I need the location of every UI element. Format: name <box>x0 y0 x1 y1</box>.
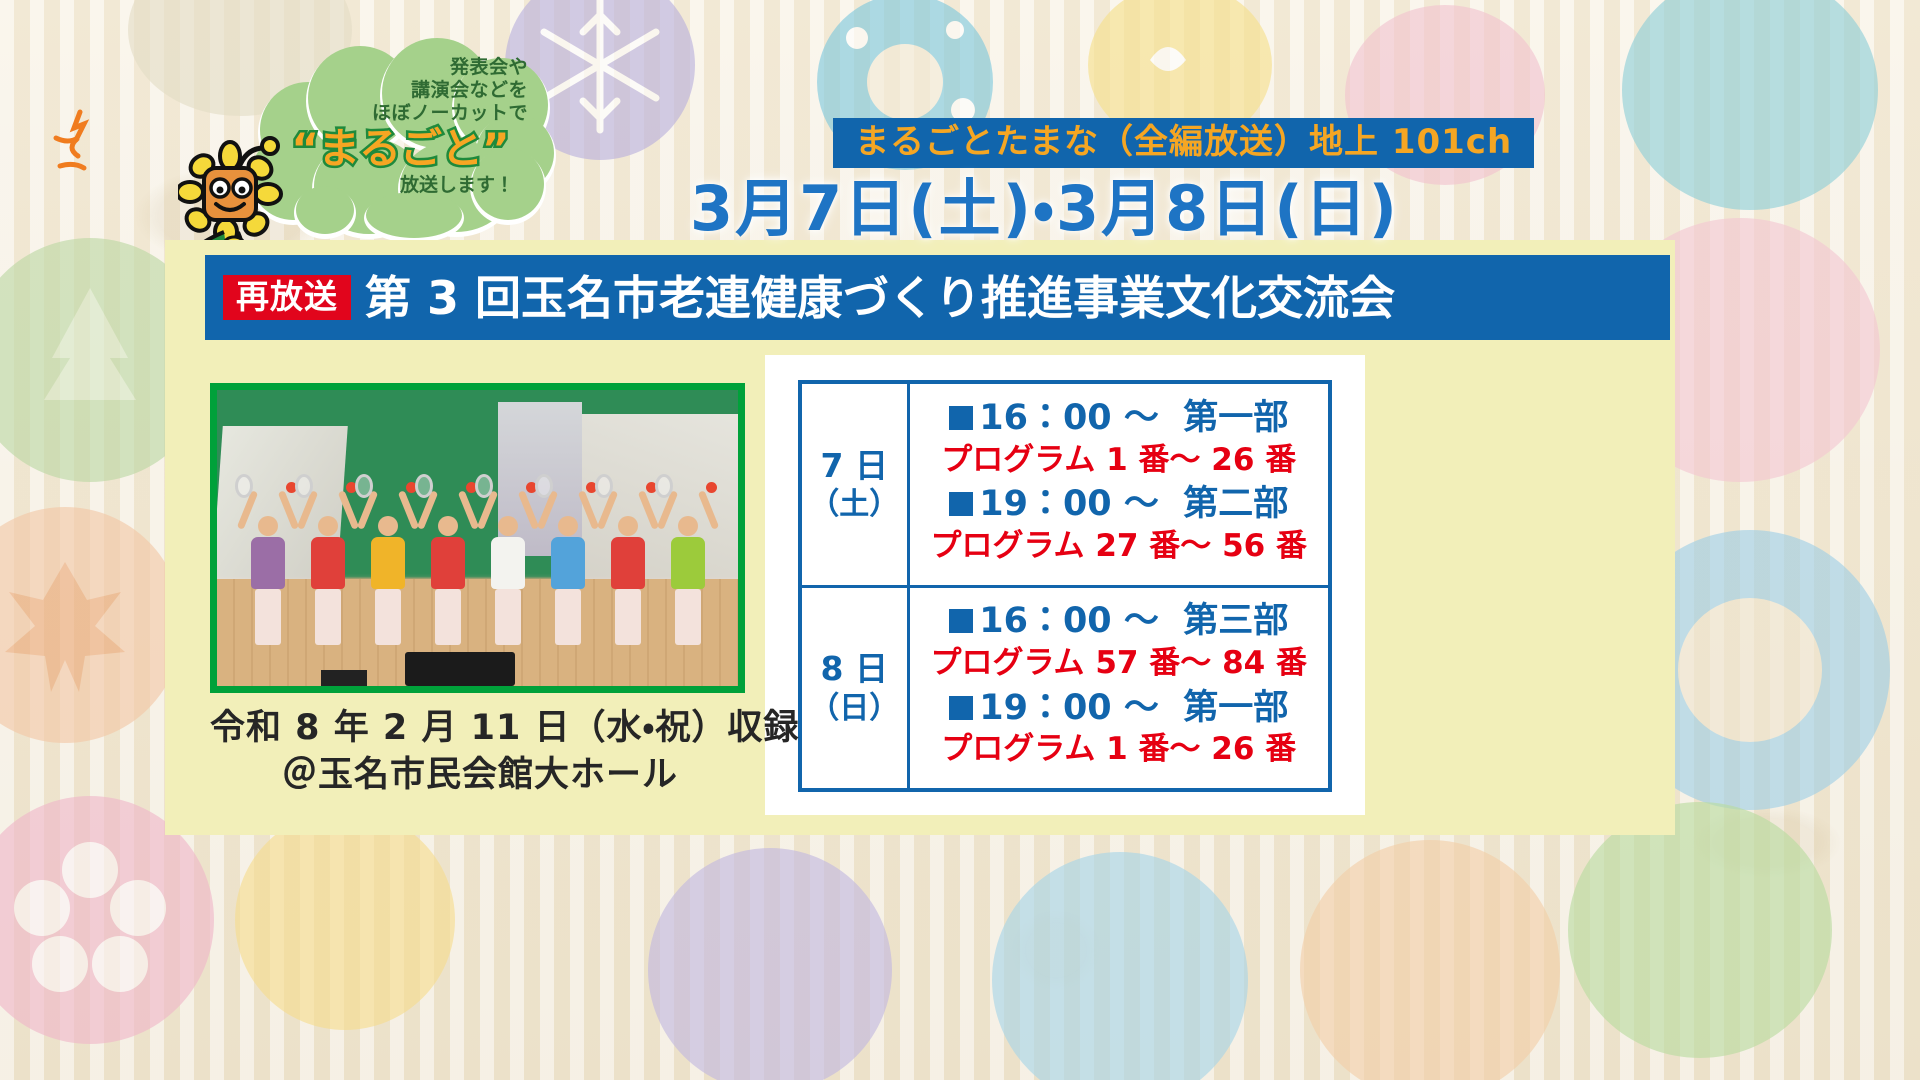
rebroadcast-badge: 再放送 <box>223 275 351 320</box>
schedule-time: 16：00 ～ <box>979 398 1159 438</box>
schedule-part: 第一部 <box>1183 688 1288 728</box>
schedule-day-weekday: （土） <box>802 486 907 524</box>
photo-performer <box>305 516 351 645</box>
broadcast-date: 3月7日(土)・3月8日(日) <box>690 158 1399 248</box>
schedule-part: 第三部 <box>1183 601 1288 641</box>
schedule-day-cell: 7 日 （土） <box>800 382 908 586</box>
schedule-slots-cell: 16：00 ～ 第一部 プログラム 1 番～ 26 番 19：00 ～ 第二部 … <box>908 382 1330 586</box>
bullet-square-icon <box>949 406 973 430</box>
caption-venue: ＠玉名市民会館大ホール <box>210 752 750 799</box>
bullet-square-icon <box>949 492 973 516</box>
schedule-part: 第二部 <box>1183 484 1288 524</box>
schedule-day-weekday: （日） <box>802 690 907 728</box>
photo-performer <box>485 516 531 645</box>
photo-performer <box>545 516 591 645</box>
bubble-line-1: 発表会や <box>250 56 550 79</box>
schedule-slots-cell: 16：00 ～ 第三部 プログラム 57 番～ 84 番 19：00 ～ 第一部… <box>908 586 1330 790</box>
page-title: 第 3 回玉名市老連健康づくり推進事業文化交流会 <box>365 275 1395 321</box>
caption-recording-date: 令和 8 年 2 月 11 日（水・祝）収録 <box>210 705 750 752</box>
schedule-part: 第一部 <box>1183 398 1288 438</box>
lavender-blob-decoration <box>640 830 900 1080</box>
teal-blob-decoration <box>1610 0 1890 220</box>
bubble-line-3: ほぼノーカットで <box>250 102 550 125</box>
schedule-time: 19：00 ～ <box>979 484 1159 524</box>
bubble-line-2: 講演会などを <box>250 79 550 102</box>
schedule-time-row: 16：00 ～ 第三部 <box>910 600 1329 643</box>
schedule-program: プログラム 57 番～ 84 番 <box>910 644 1329 683</box>
schedule-table: 7 日 （土） 16：00 ～ 第一部 プログラム 1 番～ 26 番 19：0… <box>798 380 1332 792</box>
title-bar: 再放送 第 3 回玉名市老連健康づくり推進事業文化交流会 <box>205 255 1670 340</box>
schedule-program: プログラム 27 番～ 56 番 <box>910 527 1329 566</box>
schedule-day-number: 8 日 <box>802 648 907 689</box>
event-photo <box>210 383 745 693</box>
schedule-day-cell: 8 日 （日） <box>800 586 908 790</box>
schedule-time-row: 19：00 ～ 第一部 <box>910 687 1329 730</box>
photo-performer <box>365 516 411 645</box>
maple-blob-decoration <box>0 500 190 750</box>
photo-performer <box>605 516 651 645</box>
schedule-time-row: 19：00 ～ 第二部 <box>910 483 1329 526</box>
schedule-time: 19：00 ～ <box>979 688 1159 728</box>
photo-caption: 令和 8 年 2 月 11 日（水・祝）収録 ＠玉名市民会館大ホール <box>210 705 750 800</box>
schedule-program: プログラム 1 番～ 26 番 <box>910 730 1329 769</box>
table-row: 7 日 （土） 16：00 ～ 第一部 プログラム 1 番～ 26 番 19：0… <box>800 382 1330 586</box>
photo-performer <box>245 516 291 645</box>
schedule-card: 7 日 （土） 16：00 ～ 第一部 プログラム 1 番～ 26 番 19：0… <box>765 355 1365 815</box>
schedule-time-row: 16：00 ～ 第一部 <box>910 397 1329 440</box>
peach-blob-decoration <box>1290 820 1570 1080</box>
photo-stage-monitor-small <box>321 670 367 686</box>
channel-bar-text: まるごとたまな（全編放送）地上 101ch <box>855 122 1512 162</box>
table-row: 8 日 （日） 16：00 ～ 第三部 プログラム 57 番～ 84 番 19：… <box>800 586 1330 790</box>
speech-bubble: 発表会や 講演会などを ほぼノーカットで “まるごと” 放送します！ <box>250 36 550 236</box>
photo-performer <box>425 516 471 645</box>
schedule-program: プログラム 1 番～ 26 番 <box>910 441 1329 480</box>
photo-stage-monitor <box>405 652 515 686</box>
schedule-day-number: 7 日 <box>802 445 907 486</box>
sky-blob-decoration <box>980 840 1260 1080</box>
bullet-square-icon <box>949 609 973 633</box>
bullet-square-icon <box>949 696 973 720</box>
schedule-time: 16：00 ～ <box>979 601 1159 641</box>
photo-performer <box>665 516 711 645</box>
bubble-line-4: 放送します！ <box>250 174 550 197</box>
bubble-highlight-marugoto: “まるごと” <box>250 128 550 170</box>
spark-icon <box>50 108 120 178</box>
